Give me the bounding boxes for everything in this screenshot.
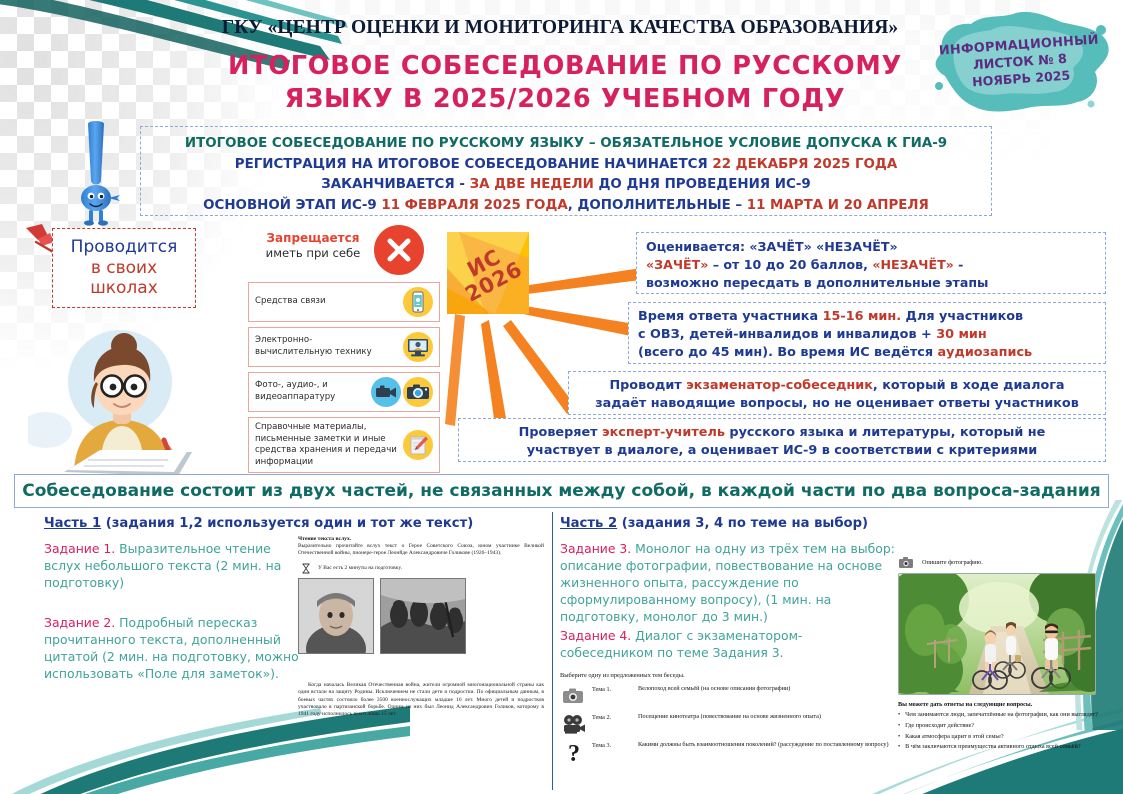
photo-card-instruction-row: Опишите фотографию. <box>898 556 1108 569</box>
forbidden-item-label: Средства связи <box>255 296 403 308</box>
exclamation-mascot-icon <box>68 118 124 228</box>
phone-icon <box>403 287 433 317</box>
topic-text: Посещение кинотеатра (повествование на о… <box>638 713 890 722</box>
topic-text: Какими должны быть взаимоотношения покол… <box>638 741 890 750</box>
schools-line-1: Проводится <box>71 237 178 258</box>
topic-label: Тема 2. <box>592 713 632 721</box>
forbidden-item-icons <box>371 377 433 407</box>
svg-text:?: ? <box>568 741 580 763</box>
list-item: Средства связи <box>248 282 440 322</box>
part2-task3: Задание 3. Монолог на одну из трёх тем н… <box>560 540 905 626</box>
hourglass-icon <box>302 563 310 574</box>
portrait-photo <box>298 578 374 654</box>
part2-photo-card: Опишите фотографию. <box>898 556 1108 754</box>
soldiers-photo <box>380 578 466 654</box>
photo-card-question: Чем занимаются люди, запечатлённые на фо… <box>905 711 1098 720</box>
question-mark-icon: ? <box>560 741 586 763</box>
infobox-deadline-highlight: ЗА ДВЕ НЕДЕЛИ <box>470 177 594 192</box>
part1-task1: Задание 1. Выразительное чтение вслух не… <box>44 540 294 591</box>
part1-task2: Задание 2. Подробный пересказ прочитанно… <box>44 614 302 682</box>
list-item: •Какая атмосфера царит в этой семье? <box>898 733 1108 742</box>
sample-doc-photos <box>298 578 544 654</box>
forbidden-item-label: Справочные материалы, письменные заметки… <box>255 422 403 468</box>
list-item: Фото-, аудио-, и видеоаппаратуру <box>248 372 440 412</box>
callout-examiner-a: Проводит <box>609 378 686 393</box>
topic-label: Тема 3. <box>592 741 632 749</box>
computer-icon <box>403 332 433 362</box>
callout-examiner-role: экзаменатор-собеседник <box>686 378 873 393</box>
videocamera-icon <box>371 377 401 407</box>
photo-card-questions-heading: Вы можете дать ответы на следующие вопро… <box>898 701 1108 708</box>
callout-expert-b: русского языка и литературы, который не <box>725 425 1045 440</box>
infobox-line-3: ЗАКАНЧИВАЕТСЯ - ЗА ДВЕ НЕДЕЛИ ДО ДНЯ ПРО… <box>149 175 983 196</box>
organization-title: ГКУ «ЦЕНТР ОЦЕНКИ И МОНИТОРИНГА КАЧЕСТВА… <box>180 17 940 39</box>
part2-task3-number: Задание 3. <box>560 541 631 556</box>
is2026-line-1: ИС <box>464 246 504 281</box>
poster-canvas: ГКУ «ЦЕНТР ОЦЕНКИ И МОНИТОРИНГА КАЧЕСТВА… <box>0 0 1123 794</box>
photo-card-instruction: Опишите фотографию. <box>922 559 983 566</box>
callout-timing-extra: 30 мин <box>936 327 987 342</box>
list-item: •Где происходит действие? <box>898 722 1108 731</box>
info-sheet-badge: ИНФОРМАЦИОННЫЙ ЛИСТОК № 8 НОЯБРЬ 2025 <box>925 8 1115 116</box>
sample-doc-timer: У Вас есть 2 минуты на подготовку. <box>302 563 544 574</box>
camera-icon <box>403 377 433 407</box>
part1-task1-number: Задание 1. <box>44 541 115 556</box>
photo-card-question: Где происходит действие? <box>905 722 974 731</box>
callout-assessment-l1: Оценивается: «ЗАЧЁТ» «НЕЗАЧЁТ» <box>646 239 898 254</box>
forbidden-item-icons <box>403 332 433 362</box>
part1-sample-document-body: Когда началась Великая Отечественная вой… <box>298 682 544 719</box>
notes-icon <box>403 430 433 460</box>
part2-heading: Часть 2 (задания 3, 4 по теме на выбор) <box>560 516 868 531</box>
infobox-line-4a: ОСНОВНОЙ ЭТАП ИС-9 <box>203 198 381 213</box>
forbidden-items-list: Средства связи Электронно- вычислительну… <box>248 282 440 478</box>
callout-timing: Время ответа участника 15-16 мин. Для уч… <box>628 302 1106 364</box>
sample-doc-timer-text: У Вас есть 2 минуты на подготовку. <box>318 565 402 571</box>
camera-icon <box>898 556 914 569</box>
part1-heading-label: Часть 1 <box>44 516 101 531</box>
infobox-line-2a: РЕГИСТРАЦИЯ НА ИТОГОВОЕ СОБЕСЕДОВАНИЕ НА… <box>235 157 713 172</box>
callout-examiner-b: , который в ходе диалога <box>873 378 1065 393</box>
student-writing-illustration <box>28 320 233 480</box>
list-item: Справочные материалы, письменные заметки… <box>248 417 440 473</box>
bullet-icon: • <box>898 733 900 742</box>
is2026-line-2: 2026 <box>462 259 525 306</box>
infobox-line-4: ОСНОВНОЙ ЭТАП ИС-9 11 ФЕВРАЛЯ 2025 ГОДА,… <box>149 196 983 217</box>
callout-expert-c: участвует в диалоге, а оценивает ИС-9 в … <box>527 443 1038 458</box>
list-item: Электронно- вычислительную технику <box>248 327 440 367</box>
page-title-line2: ЯЗЫКУ В 2025/2026 УЧЕБНОМ ГОДУ <box>170 83 960 116</box>
callout-timing-d: (всего до 45 мин). Во время ИС ведётся <box>638 345 938 360</box>
callout-assessment-dash: - <box>954 257 964 272</box>
forbidden-item-label: Электронно- вычислительную технику <box>255 335 403 358</box>
callout-timing-a: Время ответа участника <box>638 309 823 324</box>
callout-assessment-l3: возможно пересдать в дополнительные этап… <box>646 275 988 290</box>
page-title-line1: ИТОГОВОЕ СОБЕСЕДОВАНИЕ ПО РУССКОМУ <box>170 50 960 83</box>
schools-line-2: в своих <box>91 258 157 279</box>
part2-heading-label: Часть 2 <box>560 516 617 531</box>
structure-banner: Собеседование состоит из двух частей, не… <box>14 474 1109 508</box>
infobox-line-1: ИТОГОВОЕ СОБЕСЕДОВАНИЕ ПО РУССКОМУ ЯЗЫКУ… <box>149 134 983 155</box>
key-dates-infobox: ИТОГОВОЕ СОБЕСЕДОВАНИЕ ПО РУССКОМУ ЯЗЫКУ… <box>140 126 992 216</box>
list-item: ? Тема 3. Какими должны быть взаимоотнош… <box>560 741 890 763</box>
callout-assessment: Оценивается: «ЗАЧЁТ» «НЕЗАЧЁТ» «ЗАЧЁТ» –… <box>636 232 1106 294</box>
bullet-icon: • <box>898 743 900 752</box>
part1-sample-document: Чтение текста вслух. Выразительно прочит… <box>298 536 544 680</box>
part2-task4-number: Задание 4. <box>560 628 631 643</box>
sample-doc-heading: Чтение текста вслух. <box>298 536 544 542</box>
forbidden-item-label-text: Электронно- вычислительную технику <box>255 335 372 357</box>
list-item: •Чем занимаются люди, запечатлённые на ф… <box>898 711 1108 720</box>
film-projector-icon <box>560 713 586 735</box>
callout-expert-a: Проверяет <box>519 425 602 440</box>
list-item: Тема 1. Велопоход всей семьёй (на основе… <box>560 685 890 707</box>
infobox-extra-stage-dates: 11 МАРТА И 20 АПРЕЛЯ <box>747 198 929 213</box>
list-item: •В чём заключаются преимущества активног… <box>898 743 1108 752</box>
callout-assessment-pass: «ЗАЧЁТ» <box>646 257 708 272</box>
parts-divider <box>552 512 553 790</box>
topic-label: Тема 1. <box>592 685 632 693</box>
forbidden-heading-red: Запрещается <box>258 230 368 246</box>
bullet-icon: • <box>898 711 900 720</box>
callout-assessment-range: – от 10 до 20 баллов, <box>708 257 872 272</box>
forbidden-heading-sub: иметь при себе <box>258 246 368 262</box>
topic-text: Велопоход всей семьёй (на основе описани… <box>638 685 890 694</box>
callout-timing-c: с ОВЗ, детей-инвалидов и инвалидов + <box>638 327 936 342</box>
prohibition-x-icon <box>374 225 424 275</box>
info-sheet-badge-text: ИНФОРМАЦИОННЫЙ ЛИСТОК № 8 НОЯБРЬ 2025 <box>921 2 1118 123</box>
part1-heading-rest: (задания 1,2 используется один и тот же … <box>101 516 473 531</box>
bullet-icon: • <box>898 722 900 731</box>
infobox-main-stage-date: 11 ФЕВРАЛЯ 2025 ГОДА <box>381 198 567 213</box>
infobox-line-3a: ЗАКАНЧИВАЕТСЯ - <box>321 177 469 192</box>
list-item: Тема 2. Посещение кинотеатра (повествова… <box>560 713 890 735</box>
family-cycling-photo <box>898 573 1096 695</box>
part2-task4: Задание 4. Диалог с экзаменатором-собесе… <box>560 627 860 661</box>
forbidden-item-icons <box>403 430 433 460</box>
forbidden-heading: Запрещается иметь при себе <box>258 230 368 262</box>
camera-icon <box>560 685 586 707</box>
callout-examiner-c: задаёт наводящие вопросы, но не оценивае… <box>595 396 1079 411</box>
infobox-line-4c: , ДОПОЛНИТЕЛЬНЫЕ – <box>568 198 747 213</box>
sample-doc-paragraph: Выразительно прочитайте вслух текст о Ге… <box>298 543 544 558</box>
forbidden-item-icons <box>403 287 433 317</box>
callout-examiner: Проводит экзаменатор-собеседник, который… <box>568 371 1106 415</box>
part1-heading: Часть 1 (задания 1,2 используется один и… <box>44 516 473 531</box>
callout-timing-audio: аудиозапись <box>938 345 1033 360</box>
part2-topics-block: Выберите одну из предложенных тем беседы… <box>560 672 890 769</box>
part1-task2-number: Задание 2. <box>44 615 115 630</box>
photo-card-question: Какая атмосфера царит в этой семье? <box>905 733 1003 742</box>
part2-heading-rest: (задания 3, 4 по теме на выбор) <box>617 516 868 531</box>
forbidden-item-label-text: Фото-, аудио-, и видеоаппаратуру <box>255 380 335 402</box>
conducted-at-schools-box: Проводится в своих школах <box>52 228 196 308</box>
infobox-line-2: РЕГИСТРАЦИЯ НА ИТОГОВОЕ СОБЕСЕДОВАНИЕ НА… <box>149 155 983 176</box>
callout-timing-duration: 15-16 мин. <box>823 309 902 324</box>
photo-card-question: В чём заключаются преимущества активного… <box>905 743 1080 752</box>
forbidden-item-label: Фото-, аудио-, и видеоаппаратуру <box>255 380 371 403</box>
callout-expert-role: эксперт-учитель <box>602 425 725 440</box>
schools-line-3: школах <box>90 278 158 299</box>
callout-expert: Проверяет эксперт-учитель русского языка… <box>458 418 1106 462</box>
infobox-line-3c: ДО ДНЯ ПРОВЕДЕНИЯ ИС-9 <box>594 177 811 192</box>
callout-timing-b: Для участников <box>901 309 1023 324</box>
callout-assessment-fail: «НЕЗАЧЁТ» <box>872 257 953 272</box>
is2026-label: ИС 2026 <box>435 220 542 326</box>
page-title: ИТОГОВОЕ СОБЕСЕДОВАНИЕ ПО РУССКОМУ ЯЗЫКУ… <box>170 50 960 115</box>
topics-heading: Выберите одну из предложенных тем беседы… <box>560 672 890 679</box>
sample-doc-body-text: Когда началась Великая Отечественная вой… <box>298 682 544 719</box>
close-icon <box>374 225 424 275</box>
infobox-registration-start-date: 22 ДЕКАБРЯ 2025 ГОДА <box>712 157 897 172</box>
